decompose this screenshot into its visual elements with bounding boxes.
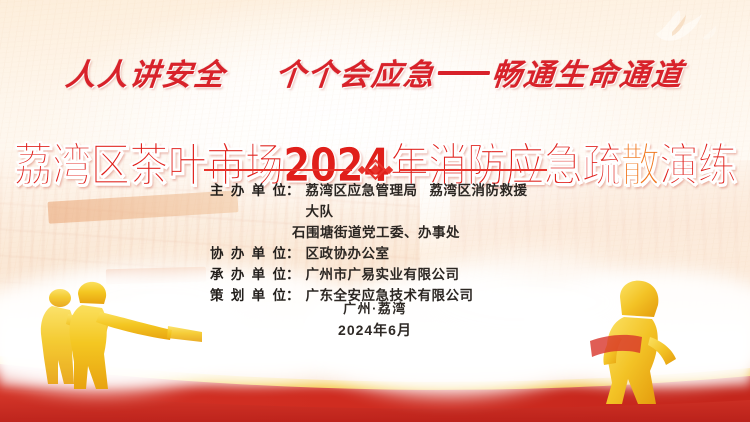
organizer-row: 石围塘街道党工委、办事处 [210, 222, 540, 243]
decorative-divider [0, 162, 750, 177]
slogan-part-1: 人人讲安全 [64, 58, 228, 93]
organizer-row: 主办单位：荔湾区应急管理局荔湾区消防救援大队 [210, 180, 540, 222]
divider-rule-right [399, 169, 547, 171]
slogan-line: 人人讲安全 个个会应急畅通生命通道 [0, 50, 750, 94]
organizer-label: 协办单位 [210, 243, 286, 264]
event-location: 广州·荔湾 [0, 298, 750, 317]
slogan-part-3: 畅通生命通道 [490, 58, 686, 93]
organizer-row: 承办单位：广州市广易实业有限公司 [210, 264, 540, 285]
organizer-value: 广州市广易实业有限公司 [306, 264, 460, 285]
organizer-value: 区政协办公室 [306, 243, 390, 264]
diamond-ornament-icon [359, 162, 392, 177]
slogan-part-2: 个个会应急 [274, 58, 438, 93]
organizer-row: 协办单位：区政协办公室 [210, 243, 540, 264]
organizer-list: 主办单位：荔湾区应急管理局荔湾区消防救援大队 石围塘街道党工委、办事处 协办单位… [0, 180, 750, 306]
poster-canvas: 人人讲安全 个个会应急畅通生命通道 荔湾区茶叶市场2024年消防应急疏散演练 主… [0, 0, 750, 422]
poster-content: 人人讲安全 个个会应急畅通生命通道 荔湾区茶叶市场2024年消防应急疏散演练 主… [0, 0, 750, 422]
organizer-colon: ： [286, 264, 300, 285]
organizer-label: 主办单位 [210, 180, 286, 222]
organizer-value: 石围塘街道党工委、办事处 [292, 222, 460, 243]
organizer-label: 承办单位 [210, 264, 286, 285]
divider-rule-left [204, 169, 352, 171]
organizer-colon: ： [286, 243, 300, 264]
event-date: 2024年6月 [0, 320, 750, 340]
organizer-value: 荔湾区应急管理局荔湾区消防救援大队 [306, 180, 541, 222]
slogan-dash [438, 71, 490, 75]
organizer-colon: ： [286, 180, 300, 222]
